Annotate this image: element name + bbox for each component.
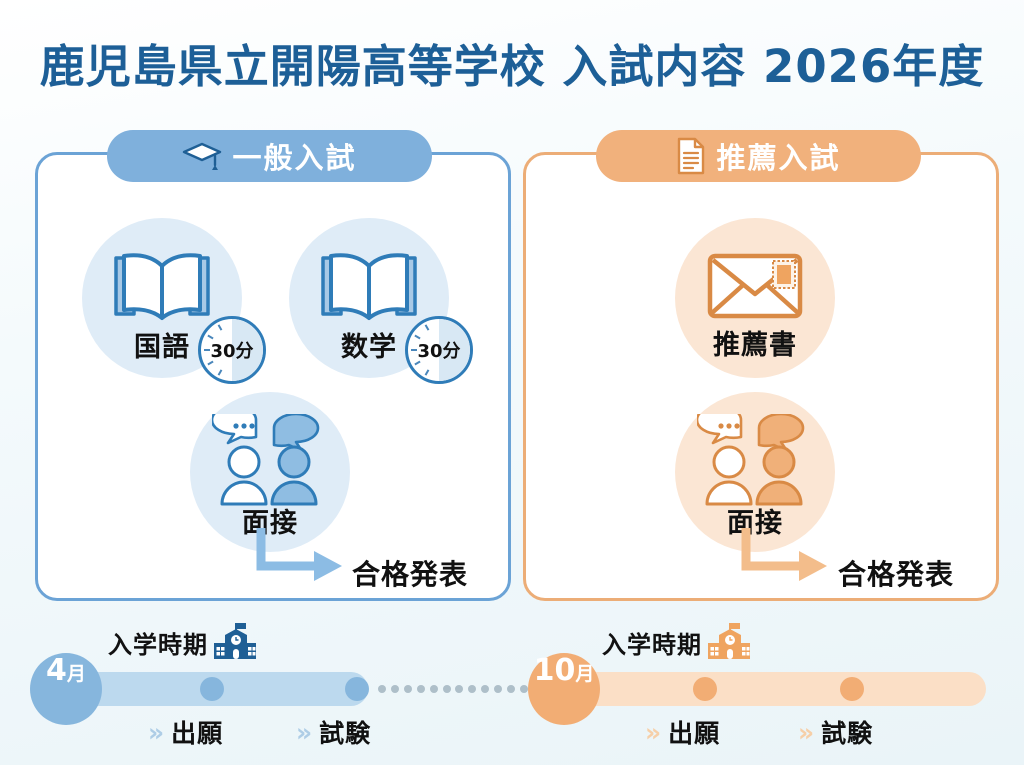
document-label-recommendation: 推薦書 (675, 323, 835, 362)
tab-general-label: 一般入試 (232, 135, 356, 177)
timeline-marker-dot-exam-april (345, 677, 369, 701)
tab-general-admission[interactable]: 一般入試 (107, 130, 432, 182)
result-label-recommendation: 合格発表 (838, 553, 954, 593)
timer-badge-japanese: 30分 (198, 316, 266, 384)
timeline-step-label: 出願 (668, 714, 720, 750)
tab-recommendation-admission[interactable]: 推薦入試 (596, 130, 921, 182)
timeline-step-exam-april: » 試験 (296, 714, 371, 750)
arrow-right-icon (741, 528, 833, 586)
school-building-icon (212, 621, 258, 663)
entry-period-text: 入学時期 (602, 625, 702, 660)
double-chevron-icon: » (296, 720, 313, 745)
arrow-right-icon (256, 528, 348, 586)
entry-period-text: 入学時期 (108, 625, 208, 660)
tab-recommendation-label: 推薦入試 (716, 135, 840, 177)
entry-period-label-october: 入学時期 (602, 621, 752, 663)
timer-label-japanese: 30分 (210, 337, 253, 363)
timeline-marker-dot-application-april (200, 677, 224, 701)
timer-badge-math: 30分 (405, 316, 473, 384)
timeline-connector-dots (378, 683, 528, 695)
timeline-step-label: 試験 (821, 714, 873, 750)
timeline-marker-dot-exam-october (840, 677, 864, 701)
infographic-canvas: 鹿児島県立開陽高等学校 入試内容 2026年度 一般入試 国語 30分 (0, 0, 1024, 765)
envelope-stamp-icon (706, 250, 804, 326)
result-label-general: 合格発表 (352, 553, 468, 593)
timeline-step-application-october: » 出願 (645, 714, 720, 750)
timeline-step-application-april: » 出願 (148, 714, 223, 750)
double-chevron-icon: » (148, 720, 165, 745)
timeline-month-number: 4 (46, 653, 67, 688)
timeline-step-label: 試験 (319, 714, 371, 750)
timeline-step-exam-october: » 試験 (798, 714, 873, 750)
timeline-month-unit: 月 (575, 659, 594, 686)
school-building-icon (706, 621, 752, 663)
timeline-month-unit: 月 (67, 659, 86, 686)
document-circle-recommendation: 推薦書 (675, 218, 835, 378)
open-book-icon (108, 244, 216, 332)
entry-period-label-april: 入学時期 (108, 621, 258, 663)
timer-label-math: 30分 (417, 337, 460, 363)
timeline-marker-dot-application-october (693, 677, 717, 701)
graduation-cap-icon (182, 140, 222, 172)
timeline-month-badge-april: 4 月 (30, 653, 102, 725)
page-title: 鹿児島県立開陽高等学校 入試内容 2026年度 (0, 30, 1024, 95)
timeline-month-badge-october: 10 月 (528, 653, 600, 725)
timeline-month-number: 10 (534, 653, 576, 688)
timeline-bar-october (556, 672, 986, 706)
timeline-step-label: 出願 (171, 714, 223, 750)
interview-people-icon (697, 414, 813, 514)
interview-people-icon (212, 414, 328, 514)
double-chevron-icon: » (798, 720, 815, 745)
double-chevron-icon: » (645, 720, 662, 745)
open-book-icon (315, 244, 423, 332)
document-icon (676, 137, 706, 175)
